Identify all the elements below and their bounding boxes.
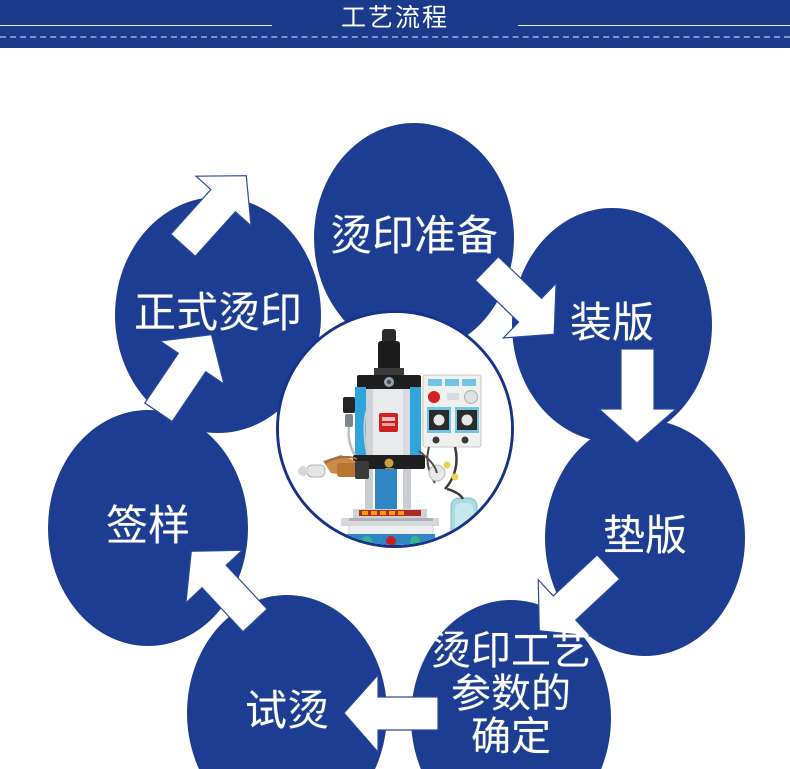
node-qianyang [48, 410, 248, 646]
page-title: 工艺流程 [0, 1, 790, 35]
hot-stamping-machine-illustration [279, 313, 511, 545]
process-flow-diagram: 烫印准备 装版 垫版 烫印工艺 参数的 确定 试烫 签样 正式烫印 [0, 48, 790, 769]
header-bar: 工艺流程 [0, 0, 790, 48]
header-dashed-divider [0, 36, 790, 38]
node-shitang [187, 595, 387, 769]
center-product-photo [276, 310, 514, 548]
